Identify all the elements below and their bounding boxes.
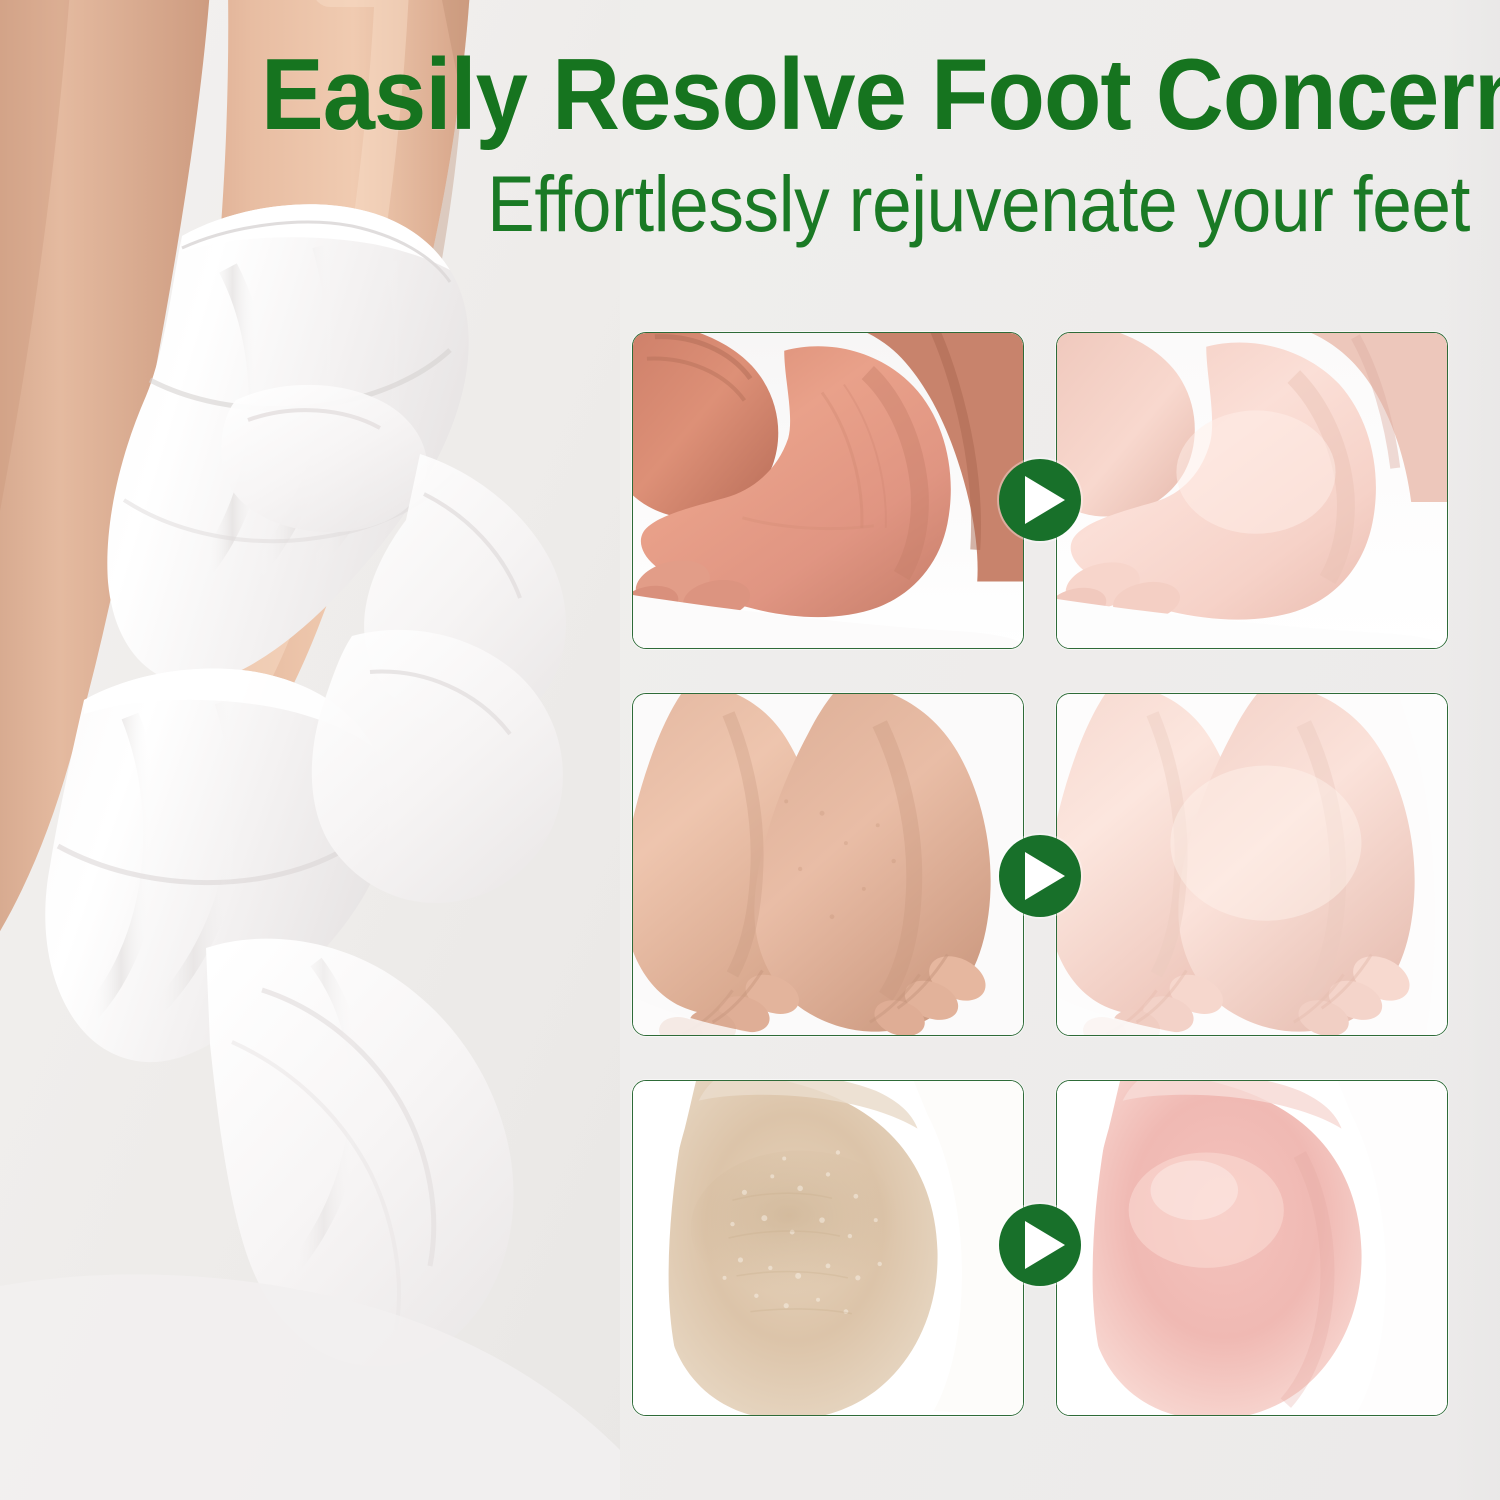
triangle-glyph <box>1025 852 1065 900</box>
photo-row1-before <box>632 332 1024 649</box>
play-arrow-icon-row2 <box>999 835 1081 917</box>
page-title: Easily Resolve Foot Concerns <box>261 42 1470 149</box>
product-banner: Easily Resolve Foot Concerns Effortlessl… <box>0 0 1500 1500</box>
photo-row2-before <box>632 693 1024 1036</box>
photo-row3-after <box>1056 1080 1448 1416</box>
headline-block: Easily Resolve Foot Concerns Effortlessl… <box>170 42 1470 248</box>
triangle-glyph <box>1025 1221 1065 1269</box>
photo-row1-after <box>1056 332 1448 649</box>
play-arrow-icon-row3 <box>999 1204 1081 1286</box>
play-arrow-icon-row1 <box>999 459 1081 541</box>
page-subtitle: Effortlessly rejuvenate your feet <box>300 161 1470 248</box>
photo-row2-after <box>1056 693 1448 1036</box>
photo-row3-before <box>632 1080 1024 1416</box>
triangle-glyph <box>1025 476 1065 524</box>
